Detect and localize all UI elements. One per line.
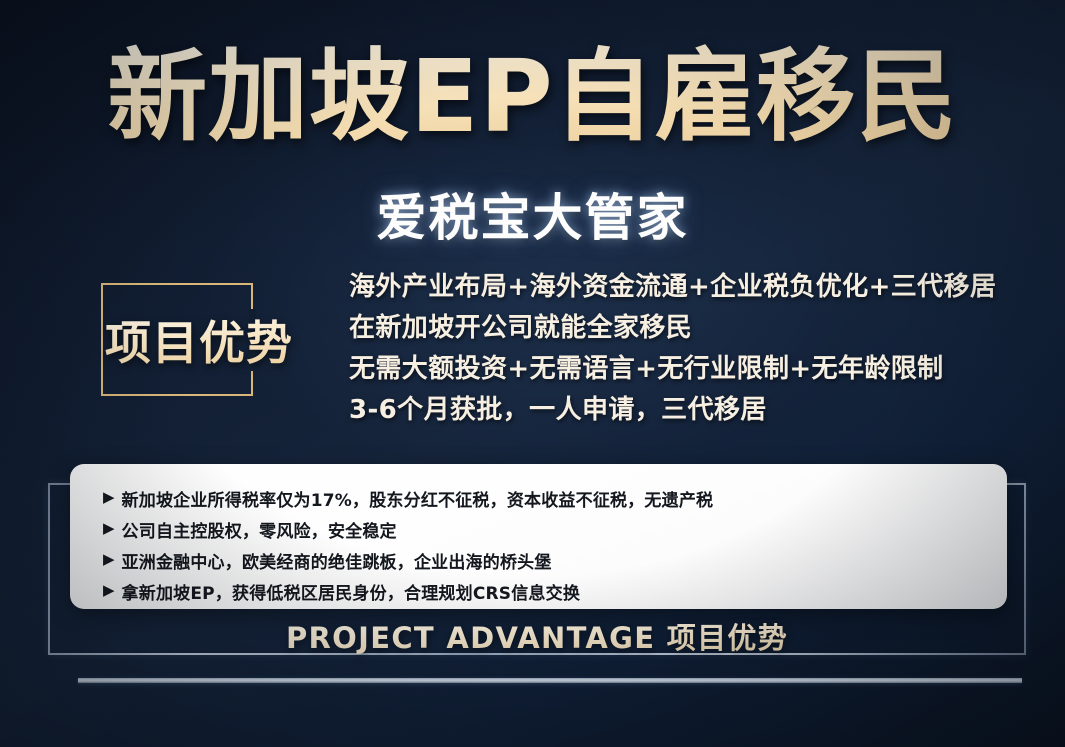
list-item-label: 拿新加坡EP，获得低税区居民身份，合理规划CRS信息交换 xyxy=(122,579,580,604)
list-item-label: 公司自主控股权，零风险，安全稳定 xyxy=(122,517,397,542)
project-advantage-badge: 项目优势 xyxy=(101,283,253,396)
feature-line: 在新加坡开公司就能全家移民 xyxy=(349,309,1029,347)
list-item: ▶ 新加坡企业所得税率仅为17%，股东分红不征税，资本收益不征税，无遗产税 xyxy=(103,484,1007,513)
feature-line: 海外产业布局+海外资金流通+企业税负优化+三代移居 xyxy=(349,268,1029,306)
triangle-bullet-icon: ▶ xyxy=(103,490,115,505)
footer-caption: PROJECT ADVANTAGE 项目优势 xyxy=(48,615,1026,657)
poster-canvas: 新加坡EP自雇移民 爱税宝大管家 项目优势 海外产业布局+海外资金流通+企业税负… xyxy=(0,0,1065,747)
page-title: 新加坡EP自雇移民 xyxy=(0,38,1065,156)
list-item: ▶ 亚洲金融中心，欧美经商的绝佳跳板，企业出海的桥头堡 xyxy=(103,546,1007,575)
list-item-label: 新加坡企业所得税率仅为17%，股东分红不征税，资本收益不征税，无遗产税 xyxy=(122,486,714,511)
triangle-bullet-icon: ▶ xyxy=(103,552,115,567)
list-item: ▶ 拿新加坡EP，获得低税区居民身份，合理规划CRS信息交换 xyxy=(103,577,1007,606)
feature-list: 海外产业布局+海外资金流通+企业税负优化+三代移居 在新加坡开公司就能全家移民 … xyxy=(349,268,1029,432)
triangle-bullet-icon: ▶ xyxy=(103,521,115,536)
feature-line: 3-6个月获批，一人申请，三代移居 xyxy=(349,391,1029,429)
list-item-label: 亚洲金融中心，欧美经商的绝佳跳板，企业出海的桥头堡 xyxy=(122,548,552,573)
triangle-bullet-icon: ▶ xyxy=(103,583,115,598)
badge-label: 项目优势 xyxy=(105,307,319,373)
bottom-divider xyxy=(78,678,1022,683)
list-item: ▶ 公司自主控股权，零风险，安全稳定 xyxy=(103,515,1007,544)
advantages-card: ▶ 新加坡企业所得税率仅为17%，股东分红不征税，资本收益不征税，无遗产税 ▶ … xyxy=(70,464,1007,609)
feature-line: 无需大额投资+无需语言+无行业限制+无年龄限制 xyxy=(349,350,1029,388)
page-subtitle: 爱税宝大管家 xyxy=(0,178,1065,250)
